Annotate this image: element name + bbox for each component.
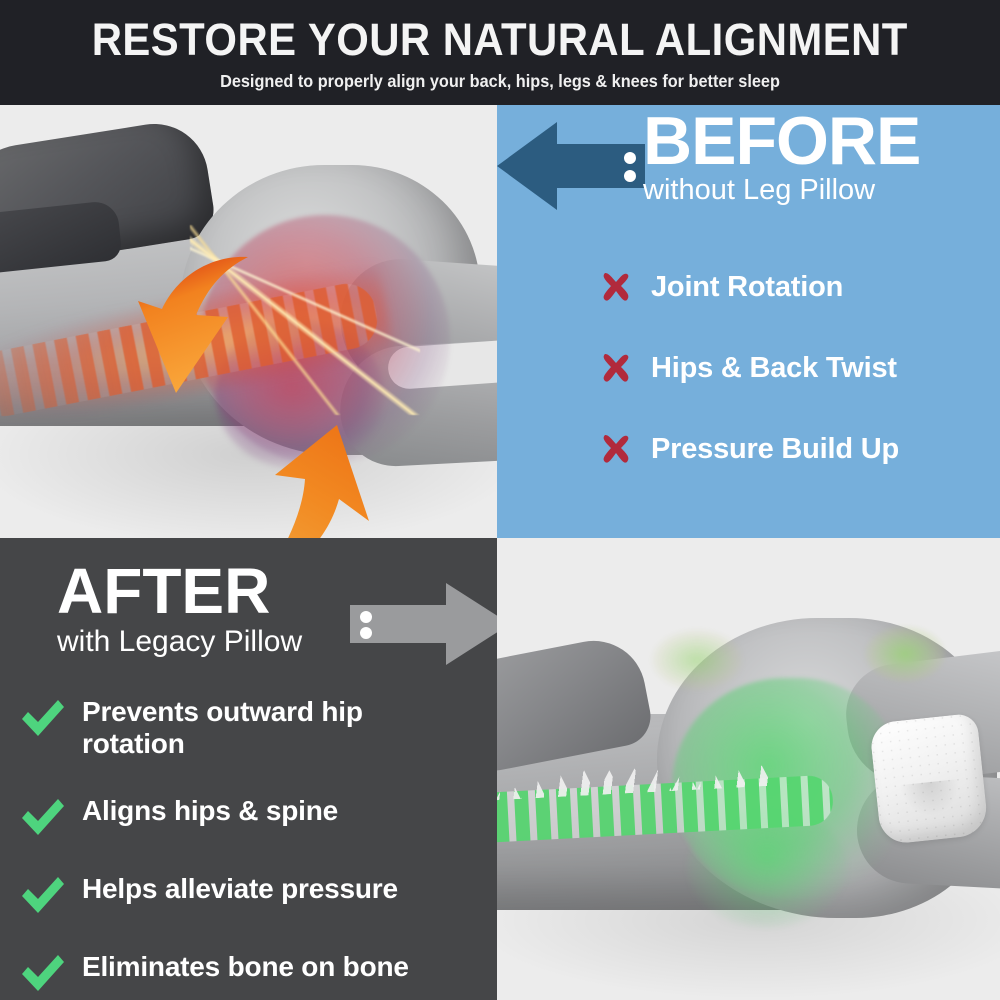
x-mark-icon [599, 270, 633, 304]
shoulder-relief-zone [652, 630, 742, 690]
after-title-group: AFTER with Legacy Pillow [57, 560, 357, 657]
list-item: Helps alleviate pressure [20, 873, 497, 915]
pressure-arrow-down-icon [120, 253, 260, 403]
page-title: RESTORE YOUR NATURAL ALIGNMENT [92, 13, 908, 62]
list-item-label: Prevents outward hip rotation [82, 696, 417, 759]
shoulder-relief-zone-2 [865, 626, 945, 682]
before-subtitle: without Leg Pillow [643, 176, 1000, 206]
pressure-arrow-up-icon [245, 425, 385, 538]
list-item-label: Pressure Build Up [651, 433, 899, 466]
check-mark-icon [20, 698, 66, 738]
after-header: AFTER with Legacy Pillow [0, 538, 497, 688]
list-item: Aligns hips & spine [20, 795, 497, 837]
leg-pillow-product [869, 713, 989, 846]
before-illustration-panel [0, 105, 497, 538]
check-mark-icon [20, 797, 66, 837]
before-feature-list: Joint Rotation Hips & Back Twist Pressur… [599, 270, 999, 513]
check-mark-icon [20, 875, 66, 915]
after-text-panel: AFTER with Legacy Pillow Prevents outwar… [0, 538, 497, 1000]
before-arrow-left-icon [497, 122, 645, 210]
x-mark-icon [599, 432, 633, 466]
list-item-label: Helps alleviate pressure [82, 873, 398, 905]
list-item-label: Joint Rotation [651, 271, 843, 304]
after-xray-illustration [497, 538, 1000, 1000]
list-item-label: Eliminates bone on bone [82, 951, 409, 983]
list-item: Prevents outward hip rotation [20, 696, 497, 759]
check-mark-icon [20, 953, 66, 993]
list-item: Pressure Build Up [599, 432, 999, 466]
before-title-group: BEFORE without Leg Pillow [643, 108, 1000, 205]
list-item: Eliminates bone on bone [20, 951, 497, 993]
list-item-label: Hips & Back Twist [651, 352, 897, 385]
page-subtitle: Designed to properly align your back, hi… [220, 71, 780, 92]
before-xray-illustration [0, 105, 497, 538]
before-text-panel: BEFORE without Leg Pillow Joint Rotation… [497, 105, 1000, 538]
before-title: BEFORE [643, 108, 1000, 175]
header-banner: RESTORE YOUR NATURAL ALIGNMENT Designed … [0, 0, 1000, 105]
x-mark-icon [599, 351, 633, 385]
after-feature-list: Prevents outward hip rotation Aligns hip… [20, 696, 497, 1000]
after-arrow-right-icon [350, 583, 497, 665]
list-item-label: Aligns hips & spine [82, 795, 338, 827]
after-title: AFTER [57, 560, 357, 623]
before-header: BEFORE without Leg Pillow [497, 105, 1000, 255]
after-illustration-panel [497, 538, 1000, 1000]
after-subtitle: with Legacy Pillow [57, 627, 357, 658]
list-item: Joint Rotation [599, 270, 999, 304]
leg-pillow-contour [899, 779, 962, 819]
infographic-root: RESTORE YOUR NATURAL ALIGNMENT Designed … [0, 0, 1000, 1000]
list-item: Hips & Back Twist [599, 351, 999, 385]
